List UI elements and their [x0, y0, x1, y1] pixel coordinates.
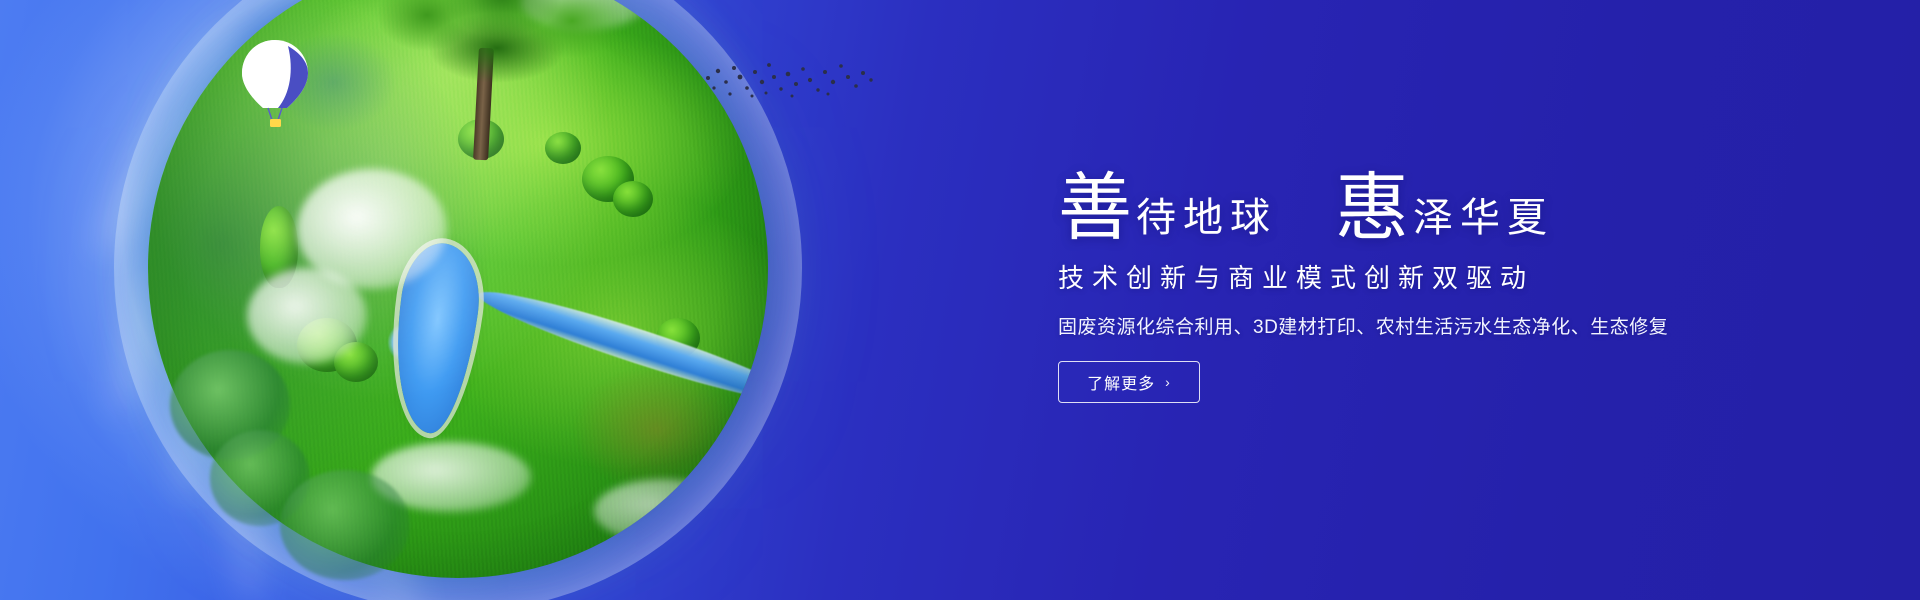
- hot-air-balloon-icon: [238, 38, 312, 130]
- hero-subtitle: 技术创新与商业模式创新双驱动: [1058, 258, 1778, 295]
- hero-copy-block: 善 待地球 惠 泽华夏 技术创新与商业模式创新双驱动 固废资源化综合利用、3D建…: [1058, 148, 1778, 403]
- cloud-icon: [520, 0, 650, 30]
- learn-more-button[interactable]: 了解更多 ›: [1058, 361, 1200, 403]
- page-title: 善 待地球 惠 泽华夏: [1058, 148, 1778, 244]
- bird-flock-icon: [700, 44, 880, 104]
- bush-icon: [260, 206, 298, 288]
- sky-atmosphere: [0, 0, 1040, 600]
- lake-shape: [383, 239, 487, 438]
- planet-halo: [114, 0, 802, 600]
- headline-part2-big: 惠: [1335, 173, 1409, 244]
- headline-part1-small: 待地球: [1136, 198, 1277, 244]
- cloud-streak-icon: [302, 0, 559, 69]
- tree-icon: [372, 0, 622, 162]
- bush-icon: [545, 132, 581, 164]
- headline-part2-small: 泽华夏: [1413, 198, 1554, 244]
- bush-icon: [334, 342, 378, 382]
- bush-icon: [297, 318, 357, 372]
- tree-icon: [280, 470, 410, 580]
- bush-icon: [613, 181, 653, 217]
- bush-icon: [582, 156, 634, 202]
- cloud-icon: [594, 479, 734, 543]
- cloud-streak-icon: [82, 21, 259, 266]
- bush-icon: [458, 119, 504, 159]
- learn-more-label: 了解更多: [1087, 370, 1155, 394]
- chevron-right-icon: ›: [1165, 374, 1171, 390]
- cloud-icon: [247, 268, 367, 364]
- river-shape: [473, 278, 768, 415]
- headline-part1-big: 善: [1058, 173, 1132, 244]
- hero-banner: 善 待地球 惠 泽华夏 技术创新与商业模式创新双驱动 固废资源化综合利用、3D建…: [0, 0, 1920, 600]
- bush-icon: [656, 318, 700, 358]
- cloud-icon: [297, 169, 447, 289]
- tree-canopy: [372, 0, 622, 102]
- hero-description: 固废资源化综合利用、3D建材打印、农村生活污水生态净化、生态修复: [1058, 312, 1778, 339]
- tree-trunk: [473, 48, 494, 161]
